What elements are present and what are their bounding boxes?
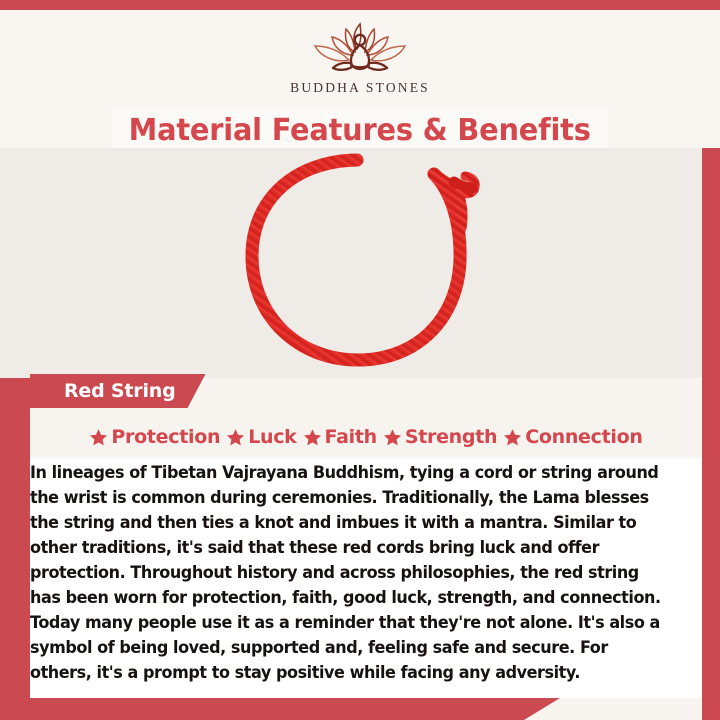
- benefit-item: Strength: [383, 426, 497, 448]
- benefit-label: Luck: [248, 426, 296, 448]
- brand-name: BUDDHA STONES: [290, 80, 430, 96]
- header: BUDDHA STONES Material Features & Benefi…: [0, 10, 720, 148]
- title-banner: Material Features & Benefits: [112, 107, 608, 153]
- benefit-item: Protection: [89, 426, 220, 448]
- left-accent-bar: [0, 378, 30, 700]
- benefit-item: Luck: [226, 426, 296, 448]
- description-text: In lineages of Tibetan Vajrayana Buddhis…: [30, 460, 663, 685]
- benefit-label: Connection: [525, 426, 642, 448]
- benefit-label: Faith: [325, 426, 377, 448]
- star-icon: [226, 428, 245, 447]
- benefit-item: Connection: [503, 426, 642, 448]
- star-icon: [383, 428, 402, 447]
- brand-logo: BUDDHA STONES: [0, 18, 720, 96]
- infographic-page: BUDDHA STONES Material Features & Benefi…: [0, 0, 720, 720]
- product-tag: Red String: [30, 374, 206, 408]
- bottom-accent-bar: [0, 698, 560, 720]
- hero-image-area: [0, 148, 702, 378]
- page-title: Material Features & Benefits: [129, 113, 591, 148]
- benefits-row: Protection Luck Faith Strength Connectio…: [30, 418, 702, 456]
- star-icon: [89, 428, 108, 447]
- star-icon: [503, 428, 522, 447]
- star-icon: [303, 428, 322, 447]
- red-braided-string-bracelet-icon: [222, 148, 502, 373]
- description-panel: In lineages of Tibetan Vajrayana Buddhis…: [30, 458, 702, 698]
- top-accent-bar: [0, 0, 720, 10]
- lotus-meditation-icon: [301, 18, 419, 76]
- product-tag-label: Red String: [64, 380, 176, 402]
- benefit-label: Protection: [111, 426, 220, 448]
- benefit-item: Faith: [303, 426, 377, 448]
- benefit-label: Strength: [405, 426, 497, 448]
